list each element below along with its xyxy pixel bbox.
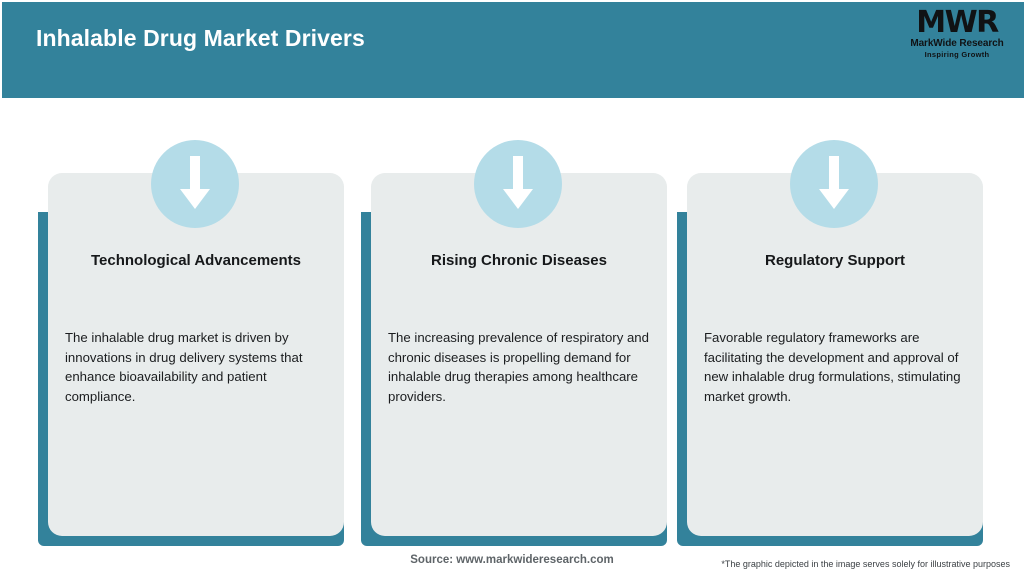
cards-row: Technological Advancements The inhalable…: [0, 0, 1024, 576]
footer-disclaimer-label: *The graphic depicted in the image serve…: [721, 559, 1010, 569]
card-body-text: Favorable regulatory frameworks are faci…: [704, 328, 980, 406]
arrow-down-icon: [790, 140, 878, 228]
card-body-text: The inhalable drug market is driven by i…: [65, 328, 335, 406]
card-title: Technological Advancements: [48, 252, 344, 269]
card-title: Rising Chronic Diseases: [371, 252, 667, 269]
arrow-down-icon: [474, 140, 562, 228]
card-title: Regulatory Support: [687, 252, 983, 269]
driver-card-technological-advancements: Technological Advancements The inhalable…: [38, 140, 344, 546]
driver-card-rising-chronic-diseases: Rising Chronic Diseases The increasing p…: [361, 140, 667, 546]
arrow-down-icon: [151, 140, 239, 228]
driver-card-regulatory-support: Regulatory Support Favorable regulatory …: [677, 140, 983, 546]
card-body-text: The increasing prevalence of respiratory…: [388, 328, 658, 406]
